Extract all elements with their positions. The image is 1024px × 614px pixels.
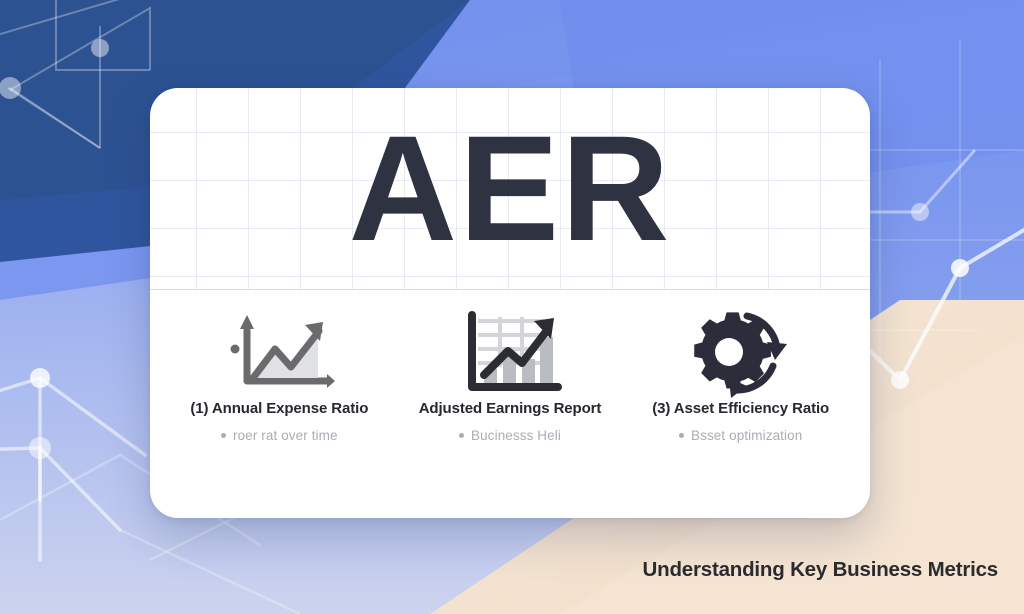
metric-title-3: (3) Asset Efficiency Ratio [652,400,829,417]
infographic-canvas: AER (1) Annual Expense Ratio [0,0,1024,614]
footer-caption: Understanding Key Business Metrics [643,558,998,582]
metric-title-2: Adjusted Earnings Report [419,400,602,417]
metric-subtitle-1-text: roer rat over time [233,428,338,443]
gear-cycle-icon [689,304,793,400]
metric-column-1: (1) Annual Expense Ratio roer rat over t… [164,298,395,443]
metric-subtitle-3-text: Bsset optimization [691,428,802,443]
metric-column-3: (3) Asset Efficiency Ratio Bsset optimiz… [625,298,856,443]
line-chart-growth-icon [223,304,335,400]
card-grid-divider [150,289,870,290]
metric-columns: (1) Annual Expense Ratio roer rat over t… [150,298,870,498]
bullet-icon [679,433,684,438]
bullet-icon [459,433,464,438]
page-title: AER [150,88,870,288]
metric-subtitle-2: Bucinesss Heli [459,428,561,443]
content-card: AER (1) Annual Expense Ratio [150,88,870,518]
metric-subtitle-3: Bsset optimization [679,428,802,443]
bullet-icon [221,433,226,438]
metric-subtitle-1: roer rat over time [221,428,338,443]
metric-subtitle-2-text: Bucinesss Heli [471,428,561,443]
metric-title-1: (1) Annual Expense Ratio [190,400,368,417]
metric-column-2: Adjusted Earnings Report Bucinesss Heli [395,298,626,443]
bar-chart-trend-icon [458,304,562,400]
